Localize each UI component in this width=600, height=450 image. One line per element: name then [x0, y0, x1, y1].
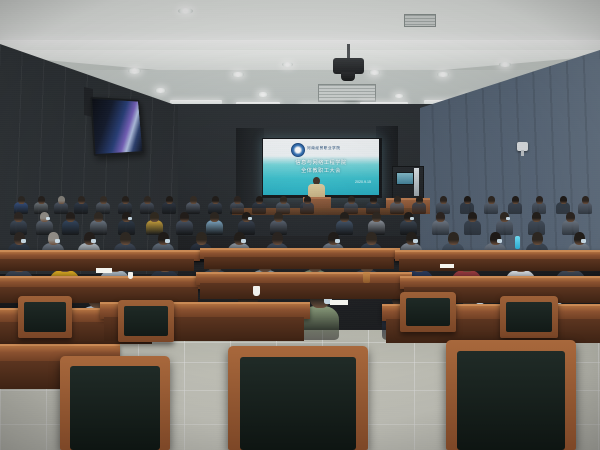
face-mask [165, 239, 170, 243]
attendee-head [18, 196, 25, 204]
attendee-head [468, 212, 477, 222]
attendee-head [560, 196, 567, 204]
attendee-head [566, 212, 575, 222]
attendee-head [370, 196, 377, 204]
wall-mounted-display[interactable] [90, 97, 144, 156]
attendee-head [212, 196, 219, 204]
attendee-head [512, 196, 519, 204]
foreground-chair [446, 340, 576, 450]
attendee-shoulders [336, 220, 353, 235]
attendee-head [304, 196, 311, 204]
foreground-chair [60, 356, 170, 450]
rack-monitor-screen [396, 172, 414, 185]
attendee-shoulders [176, 220, 193, 235]
attendee-head [464, 196, 471, 204]
downlight [128, 68, 141, 74]
chair [118, 300, 174, 342]
air-vent-grille [318, 84, 376, 102]
slide-university-name: 河南经贸职业学院 [307, 146, 341, 151]
projector-lens-icon [341, 72, 355, 81]
chair-backrest-pad [457, 351, 565, 450]
chair-backrest-pad [240, 357, 356, 450]
water-bottle [515, 236, 520, 249]
attendee-shoulders [62, 220, 79, 235]
attendee-head [532, 212, 541, 222]
chair-backrest-pad [70, 366, 160, 450]
thermos-tumbler [363, 272, 370, 283]
attendee-head [280, 196, 287, 204]
face-mask [410, 217, 414, 220]
downlight [178, 8, 193, 14]
face-mask [497, 239, 502, 243]
attendee-head [440, 196, 447, 204]
foreground-chair [228, 346, 368, 450]
attendee-head [58, 196, 65, 204]
attendee-head [416, 196, 423, 204]
attendee-head [14, 212, 23, 222]
attendee-head [366, 232, 377, 245]
downlight [232, 72, 244, 77]
attendee-head [582, 196, 589, 204]
slide-date: 2020.9.15 [355, 180, 371, 184]
face-mask [248, 217, 252, 220]
chair-backrest-pad [406, 298, 450, 326]
attendee-head [210, 212, 219, 222]
face-mask [581, 239, 586, 243]
downlight [369, 70, 380, 75]
chair [400, 292, 456, 332]
attendee-head [196, 232, 207, 245]
desk-front-panel [204, 257, 394, 269]
downlight [258, 92, 268, 97]
attendee-shoulders [464, 220, 481, 235]
face-mask [506, 217, 510, 220]
wall-speaker-bracket [521, 150, 524, 156]
lecture-hall-photo: 河南经贸职业学院 信息与网络工程学院 全体教职工大会 2020.9.15 [0, 0, 600, 450]
paper-handout [440, 264, 454, 268]
face-mask [91, 239, 96, 243]
attendee-shoulders [432, 220, 449, 235]
air-vent-grille [404, 14, 436, 27]
attendee-head [532, 232, 543, 245]
attendee-head [372, 212, 381, 222]
tv-screen-content [92, 99, 142, 154]
attendee-head [272, 232, 283, 245]
desk-front-panel [200, 283, 406, 299]
attendee-head [436, 212, 445, 222]
attendee-shoulders [206, 220, 223, 235]
face-mask [335, 239, 340, 243]
attendee-head [120, 232, 131, 245]
attendee-head [274, 212, 283, 222]
desk-front-panel [399, 259, 600, 271]
cove-light-strip [0, 40, 600, 50]
attendee-head [100, 196, 107, 204]
paper-cup [128, 272, 133, 279]
attendee-head [180, 212, 189, 222]
slide-title-line-2: 全体教职工大会 [263, 167, 379, 174]
attendee-head [448, 232, 459, 245]
slide-title-line-1: 信息与网络工程学院 [263, 159, 379, 166]
attendee-head [122, 196, 129, 204]
face-mask [128, 217, 132, 220]
downlight [282, 62, 293, 67]
downlight [499, 62, 511, 67]
attendee-head [256, 196, 263, 204]
paper-handout [330, 300, 348, 305]
attendee-head [150, 212, 159, 222]
paper-handout [96, 268, 112, 273]
chair-backrest-pad [24, 302, 66, 332]
attendee-head [536, 196, 543, 204]
paper-cup [253, 286, 260, 296]
face-mask [21, 239, 26, 243]
attendee-head [234, 196, 241, 204]
attendee-head [38, 196, 45, 204]
downlight [394, 94, 404, 98]
attendee-head [190, 196, 197, 204]
face-mask [413, 239, 418, 243]
chair [500, 296, 558, 338]
face-mask [241, 239, 246, 243]
attendee-head [340, 212, 349, 222]
attendee-head [488, 196, 495, 204]
attendee-head [78, 196, 85, 204]
chair-backrest-pad [124, 306, 168, 336]
chair [18, 296, 72, 338]
rack-light-column [414, 168, 419, 196]
chair-backrest-pad [506, 302, 552, 332]
attendee-head [394, 196, 401, 204]
attendee-head [94, 212, 103, 222]
attendee-head [348, 196, 355, 204]
attendee-head [166, 196, 173, 204]
attendee-head [66, 212, 75, 222]
face-mask [46, 217, 50, 220]
downlight [155, 88, 166, 93]
attendee-head [144, 196, 151, 204]
university-emblem-icon [291, 143, 305, 157]
face-mask [55, 239, 60, 243]
downlight [437, 72, 449, 77]
